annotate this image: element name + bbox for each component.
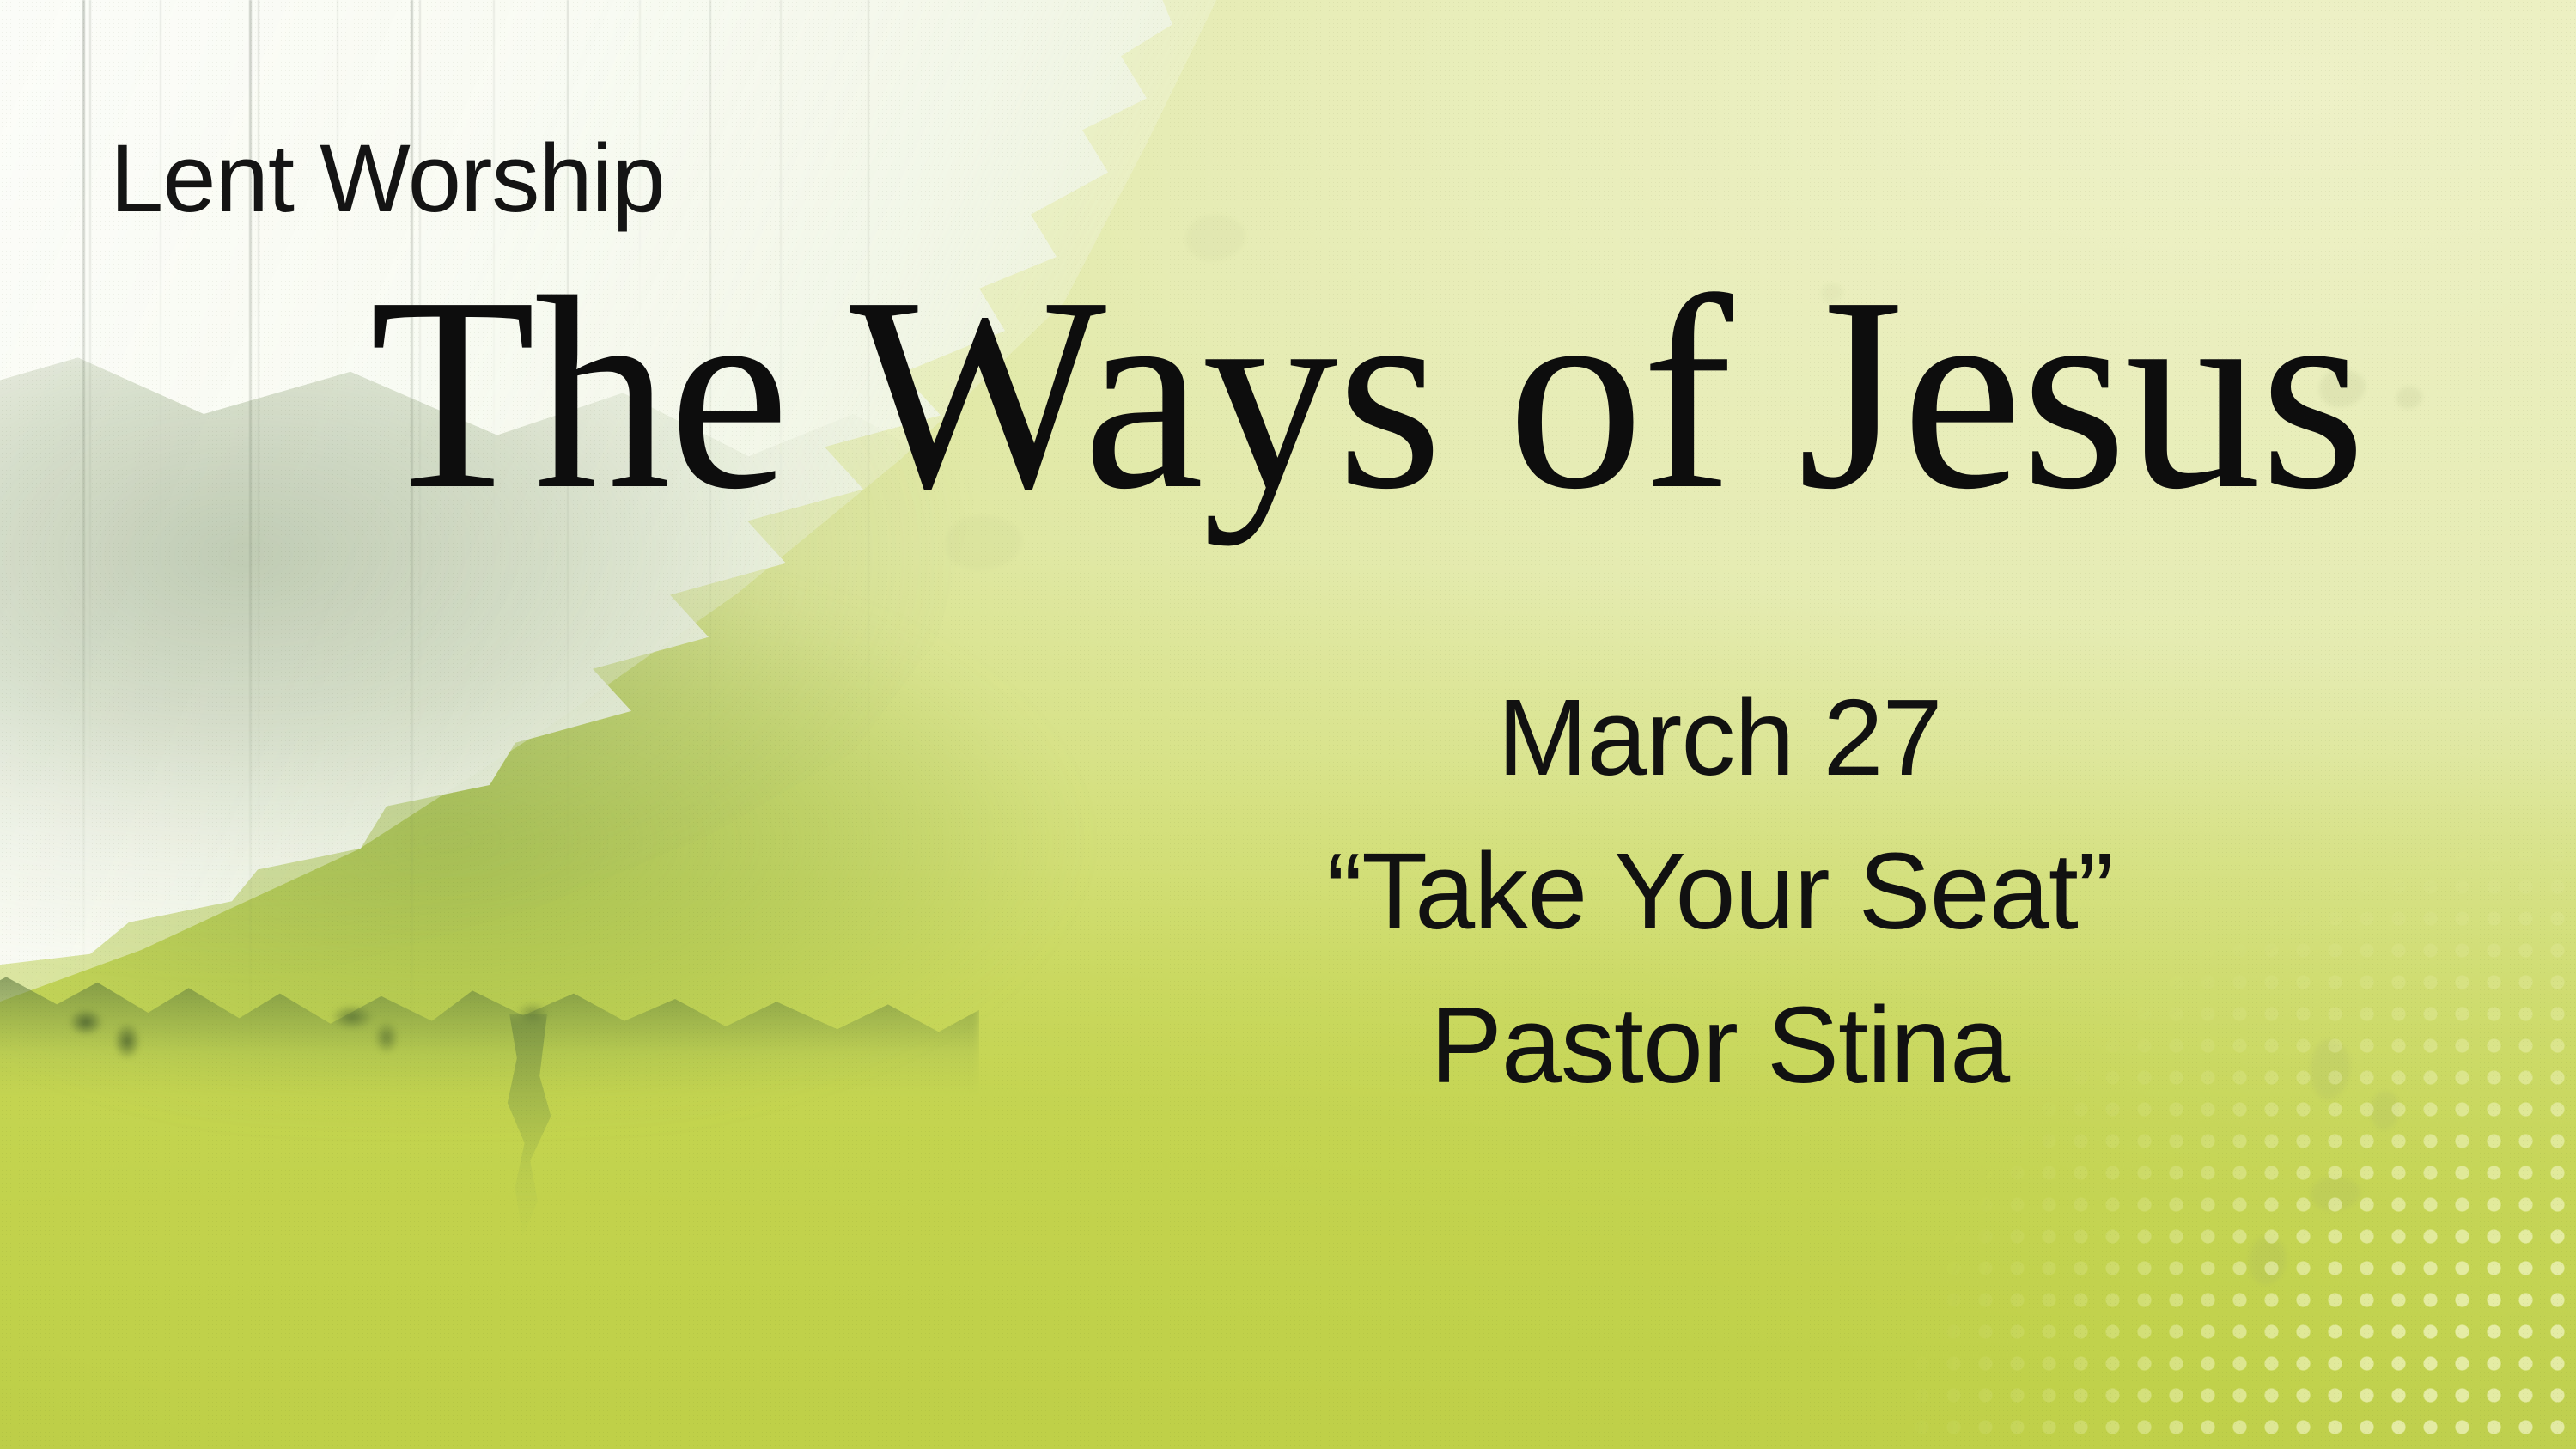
series-title: The Ways of Jesus <box>369 266 2332 521</box>
sermon-title: “Take Your Seat” <box>1247 815 2192 969</box>
worship-slide: Lent Worship The Ways of Jesus March 27 … <box>0 0 2576 1449</box>
text-layer: Lent Worship The Ways of Jesus March 27 … <box>0 0 2576 1449</box>
series-kicker: Lent Worship <box>110 131 665 227</box>
speaker-name: Pastor Stina <box>1247 969 2192 1123</box>
service-date: March 27 <box>1247 661 2192 815</box>
service-details: March 27 “Take Your Seat” Pastor Stina <box>1247 661 2192 1123</box>
